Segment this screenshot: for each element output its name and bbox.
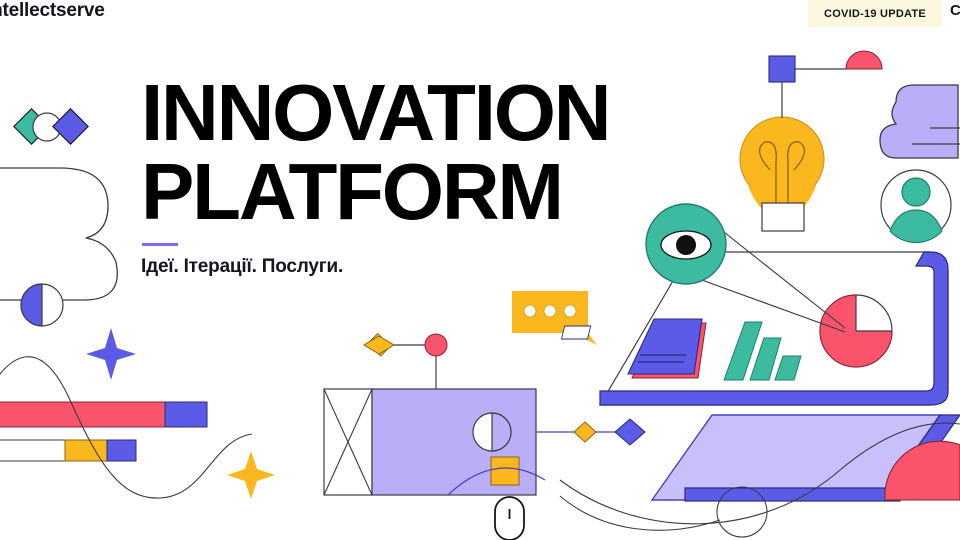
covid-update-label: COVID-19 UPDATE [824, 8, 926, 20]
node-square-blue [769, 56, 795, 82]
mouse-icon [495, 497, 524, 540]
title-divider [142, 243, 178, 246]
node-diamond-yellow [364, 336, 394, 354]
panel-half-circle [473, 413, 511, 451]
page-subtitle: Ідеї. Ітерації. Послуги. [141, 256, 343, 278]
progress-bar-red [0, 402, 207, 427]
pie-chart [820, 295, 892, 367]
semicircle-red-top [846, 51, 882, 69]
covid-update-badge[interactable]: COVID-19 UPDATE [808, 0, 942, 27]
half-circle-blue [21, 284, 63, 326]
node-diamond-yellow-right [574, 422, 596, 442]
star-blue [86, 328, 136, 380]
hero-banner: Intellectserve COVID-19 UPDATE C INNOVAT… [0, 0, 960, 540]
cloud-lavender [880, 85, 960, 158]
page-title: INNOVATION PLATFORM [141, 73, 701, 231]
node-diamond-blue-right [615, 419, 645, 445]
diamond-blue [53, 109, 88, 144]
star-yellow [227, 451, 275, 499]
cloud-outline [0, 168, 117, 300]
node-square-yellow [491, 457, 519, 485]
lightbulb-icon [740, 70, 824, 231]
brand-logo[interactable]: Intellectserve [0, 0, 105, 22]
headline-line-1: INNOVATION [141, 73, 701, 152]
corner-glyph[interactable]: C [950, 2, 960, 19]
progress-bar-yellow [0, 440, 136, 461]
crossed-box [324, 389, 372, 495]
avatar-icon [881, 170, 951, 243]
headline-line-2: PLATFORM [141, 152, 701, 231]
node-circle-red [425, 334, 447, 356]
